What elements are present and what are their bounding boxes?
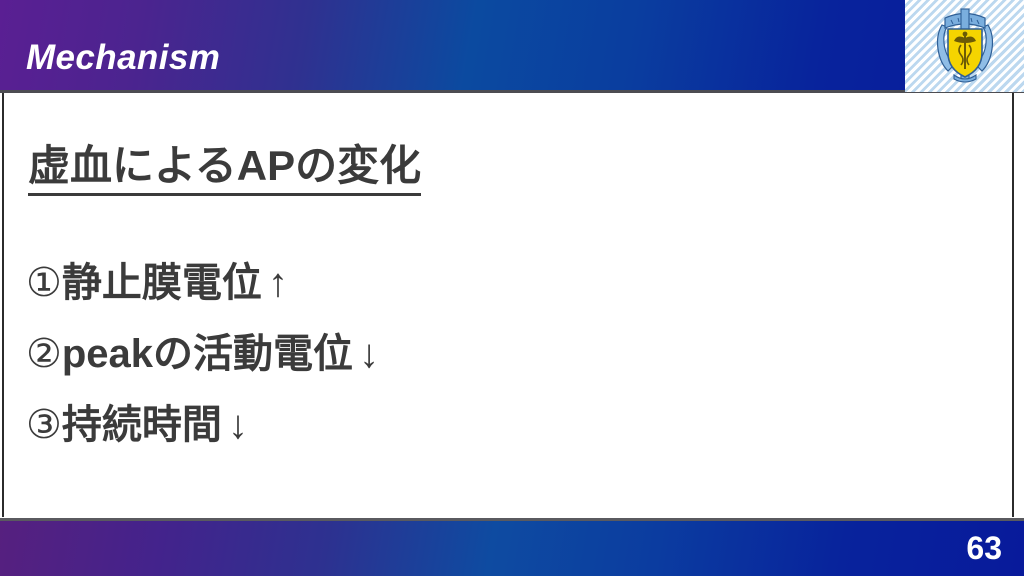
university-medical-crest-icon bbox=[932, 5, 998, 87]
list-item-label: peakの活動電位 bbox=[62, 334, 353, 374]
page-number: 63 bbox=[966, 532, 1002, 564]
slide-footer-band: 63 bbox=[0, 521, 1024, 576]
down-arrow-icon: ↓ bbox=[228, 405, 248, 445]
content-heading: 虚血によるAPの変化 bbox=[28, 143, 421, 196]
list-item: ③ 持続時間 ↓ bbox=[26, 405, 926, 476]
up-arrow-icon: ↑ bbox=[268, 263, 288, 303]
list-item-marker: ③ bbox=[26, 405, 62, 445]
logo-panel bbox=[905, 0, 1024, 92]
slide-title: Mechanism bbox=[26, 40, 220, 75]
slide-content-panel: 虚血によるAPの変化 ① 静止膜電位 ↑ ② peakの活動電位 ↓ ③ 持続時… bbox=[2, 93, 1014, 517]
presentation-slide: Mechanism 虚血によるAPの変化 bbox=[0, 0, 1024, 576]
list-item: ② peakの活動電位 ↓ bbox=[26, 334, 926, 405]
list-item-marker: ① bbox=[26, 263, 62, 303]
list-item-label: 持続時間 bbox=[62, 405, 222, 445]
list-item-marker: ② bbox=[26, 334, 62, 374]
list-item-label: 静止膜電位 bbox=[62, 263, 262, 303]
list-item: ① 静止膜電位 ↑ bbox=[26, 263, 926, 334]
down-arrow-icon: ↓ bbox=[359, 334, 379, 374]
bullet-list: ① 静止膜電位 ↑ ② peakの活動電位 ↓ ③ 持続時間 ↓ bbox=[26, 263, 926, 476]
